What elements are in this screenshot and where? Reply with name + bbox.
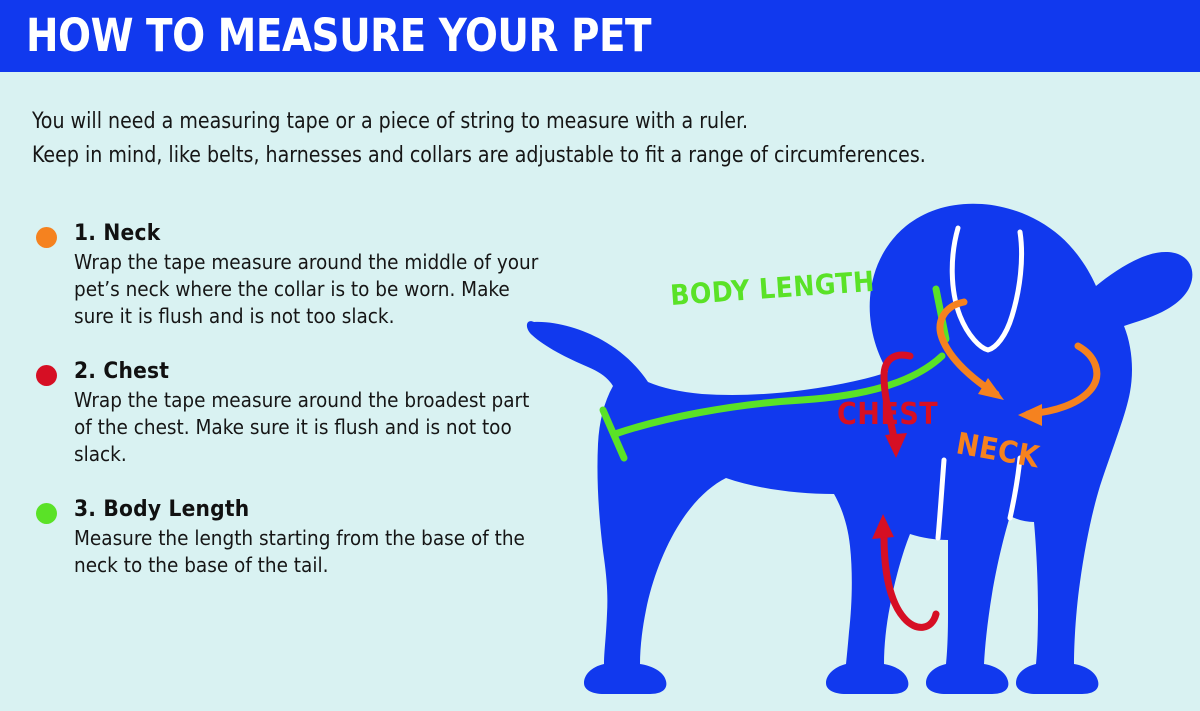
step-item-chest: 2. Chest Wrap the tape measure around th…: [32, 356, 542, 468]
body-length-label: BODY LENGTH: [669, 265, 876, 312]
step-title-body-length: 3. Body Length: [74, 494, 542, 524]
step-body-chest: Wrap the tape measure around the broades…: [74, 387, 542, 468]
step-body-body-length: Measure the length starting from the bas…: [74, 525, 542, 579]
step-item-neck: 1. Neck Wrap the tape measure around the…: [32, 218, 542, 330]
bullet-chest-icon: [36, 365, 57, 386]
page-title: HOW TO MEASURE YOUR PET: [26, 11, 651, 61]
step-title-neck: 1. Neck: [74, 218, 542, 248]
bullet-neck-icon: [36, 227, 57, 248]
bullet-body-length-icon: [36, 503, 57, 524]
dog-measurement-diagram: BODY LENGTH NECK CHEST: [512, 186, 1200, 711]
header-bar: HOW TO MEASURE YOUR PET: [0, 0, 1200, 72]
intro-line-2: Keep in mind, like belts, harnesses and …: [32, 138, 981, 172]
chest-label: CHEST: [837, 397, 938, 432]
steps-list: 1. Neck Wrap the tape measure around the…: [32, 218, 542, 605]
step-item-body-length: 3. Body Length Measure the length starti…: [32, 494, 542, 579]
step-body-neck: Wrap the tape measure around the middle …: [74, 249, 542, 330]
intro-paragraph: You will need a measuring tape or a piec…: [32, 104, 981, 172]
intro-line-1: You will need a measuring tape or a piec…: [32, 104, 981, 138]
step-title-chest: 2. Chest: [74, 356, 542, 386]
infographic-page: HOW TO MEASURE YOUR PET You will need a …: [0, 0, 1200, 711]
